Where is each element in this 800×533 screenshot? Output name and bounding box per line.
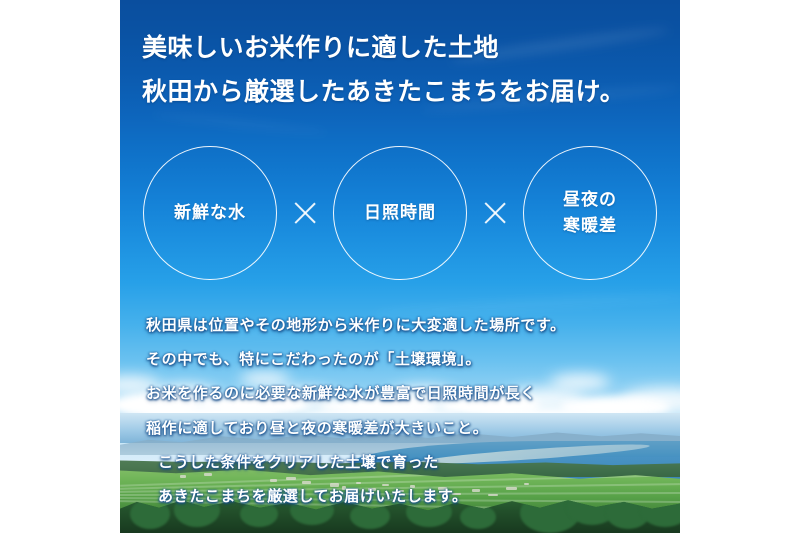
factor-label: 昼夜の 寒暖差 bbox=[563, 187, 617, 240]
body-copy: 秋田県は位置やその地形から米作りに大変適した場所です。 その中でも、特にこだわっ… bbox=[146, 308, 666, 513]
banner-content: 美味しいお米作りに適した土地 秋田から厳選したあきたこまちをお届け。 新鮮な水 … bbox=[120, 0, 680, 533]
body-line: その中でも、特にこだわったのが「土壌環境」。 bbox=[146, 342, 666, 376]
body-line: 秋田県は位置やその地形から米作りに大変適した場所です。 bbox=[146, 308, 666, 342]
body-line: 稲作に適しており昼と夜の寒暖差が大きいこと。 bbox=[146, 411, 666, 445]
headline-line-2: 秋田から厳選したあきたこまちをお届け。 bbox=[142, 70, 662, 114]
letterbox-bar-left bbox=[0, 0, 120, 533]
factor-circles: 新鮮な水 日照時間 昼夜の 寒暖差 bbox=[120, 146, 680, 286]
body-line: こうした条件をクリアした土壌で育った bbox=[146, 445, 666, 479]
factor-circle-temperature-range: 昼夜の 寒暖差 bbox=[523, 146, 657, 280]
promo-banner: 美味しいお米作りに適した土地 秋田から厳選したあきたこまちをお届け。 新鮮な水 … bbox=[120, 0, 680, 533]
factor-label: 新鮮な水 bbox=[174, 200, 246, 226]
headline: 美味しいお米作りに適した土地 秋田から厳選したあきたこまちをお届け。 bbox=[142, 26, 662, 114]
factor-circle-sunshine-hours: 日照時間 bbox=[333, 146, 467, 280]
letterbox-bar-right bbox=[680, 0, 800, 533]
multiply-icon bbox=[291, 199, 319, 227]
headline-line-1: 美味しいお米作りに適した土地 bbox=[142, 26, 662, 70]
multiply-icon bbox=[481, 199, 509, 227]
factor-label: 日照時間 bbox=[364, 200, 436, 226]
body-line: あきたこまちを厳選してお届けいたします。 bbox=[146, 479, 666, 513]
body-line: お米を作るのに必要な新鮮な水が豊富で日照時間が長く bbox=[146, 376, 666, 410]
factor-circle-fresh-water: 新鮮な水 bbox=[143, 146, 277, 280]
banner-canvas: 美味しいお米作りに適した土地 秋田から厳選したあきたこまちをお届け。 新鮮な水 … bbox=[0, 0, 800, 533]
